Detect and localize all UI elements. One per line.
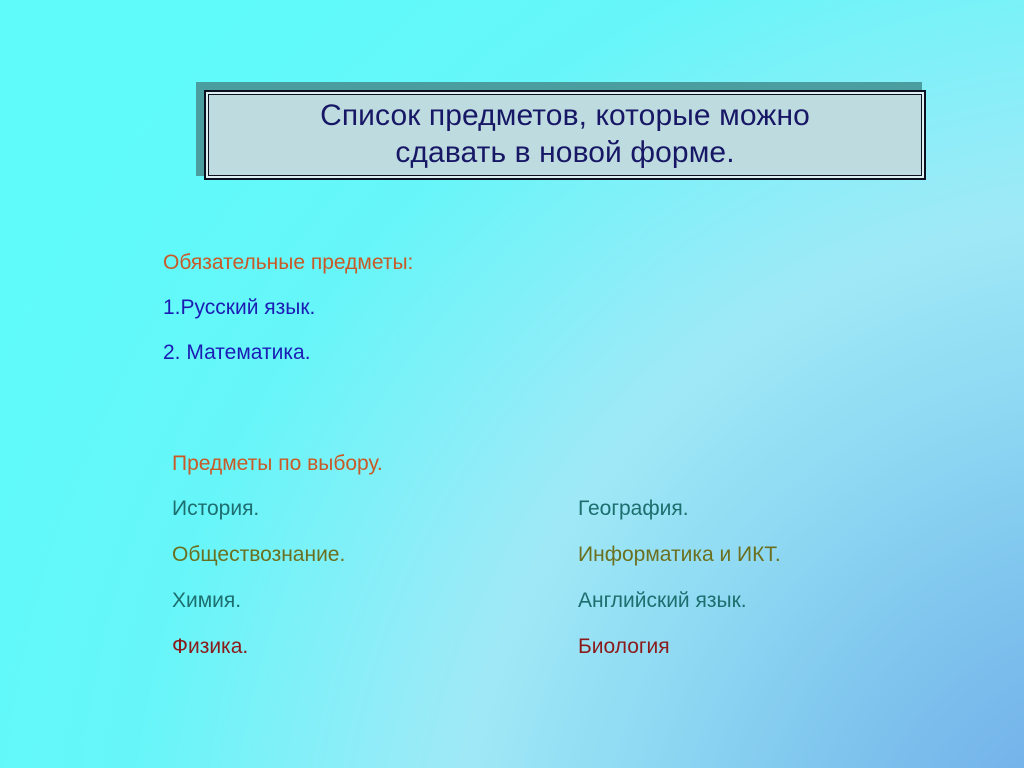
elective-item-fizika: Физика. [172, 636, 578, 657]
elective-item-obshchestvoznanie: Обществознание. [172, 544, 578, 565]
required-subjects-heading: Обязательные предметы: [163, 252, 683, 273]
required-subjects-block: Обязательные предметы: 1.Русский язык. 2… [163, 252, 683, 363]
required-subject-item-2: 2. Математика. [163, 342, 683, 363]
elective-item-informatika-ikt: Информатика и ИКТ. [578, 544, 962, 565]
slide-title-banner: Список предметов, которые можно сдавать … [196, 82, 936, 186]
required-subject-item-1: 1.Русский язык. [163, 297, 683, 318]
elective-item-angliyskiy-yazyk: Английский язык. [578, 590, 962, 611]
elective-item-geografiya: География. [578, 498, 962, 519]
elective-item-himiya: Химия. [172, 590, 578, 611]
elective-item-biologiya: Биология [578, 636, 962, 657]
elective-item-istoriya: История. [172, 498, 578, 519]
title-banner-box: Список предметов, которые можно сдавать … [204, 90, 926, 180]
electives-heading: Предметы по выбору. [172, 453, 383, 474]
electives-right-column: География. Информатика и ИКТ. Английский… [578, 498, 962, 657]
electives-left-column: История. Обществознание. Химия. Физика. [172, 498, 578, 657]
slide-title-text: Список предметов, которые можно сдавать … [306, 98, 824, 171]
electives-columns: История. Обществознание. Химия. Физика. … [172, 498, 962, 657]
slide-canvas: Список предметов, которые можно сдавать … [0, 0, 1024, 768]
